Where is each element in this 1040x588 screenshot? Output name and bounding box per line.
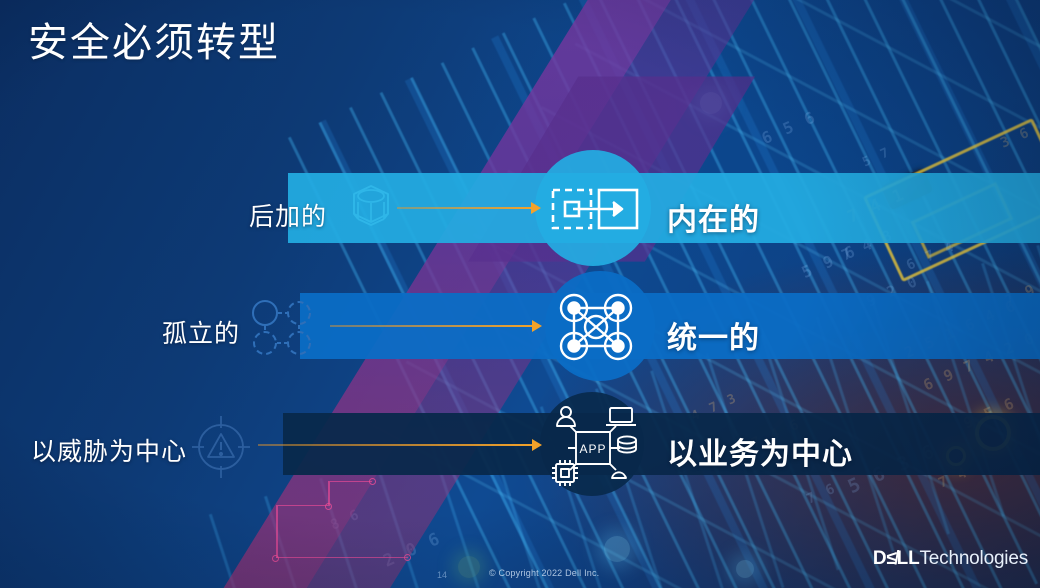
circuit-glow-dot-4 [736, 560, 754, 578]
row-1-transition-arrow [397, 202, 541, 214]
row-2-transition-arrow [330, 320, 542, 332]
threat-target-icon [190, 414, 252, 480]
app-icon-label: APP [579, 442, 606, 456]
slide-number: 14 [437, 570, 447, 580]
row-3-to-label: 以业务为中心 [667, 429, 853, 473]
app-ecosystem-icon: APP [548, 402, 638, 486]
row-1-to-label: 内在的 [667, 195, 760, 239]
connected-mesh-icon [556, 291, 636, 363]
embedded-module-icon [551, 186, 639, 232]
dell-wordmark: D≰LL [873, 548, 920, 570]
copyright-notice: © Copyright 2022 Dell Inc. [489, 568, 599, 578]
disconnected-nodes-icon [249, 297, 315, 359]
row-2-to-label: 统一的 [667, 313, 760, 357]
slide-canvas: 6 5 6 7 4 1 5 9 6 7 4 8 9 2 0 6 7 4 3 6 … [0, 0, 1040, 588]
dell-technologies-logo: D≰LL Technologies [873, 548, 1028, 570]
page-title: 安全必须转型 [28, 18, 280, 68]
circuit-glow-dot-2 [604, 536, 630, 562]
row-2-from-label: 孤立的 [162, 314, 240, 350]
technologies-wordmark: Technologies [919, 548, 1028, 570]
row-1-from-label: 后加的 [249, 197, 327, 233]
row-3-from-label: 以威胁为中心 [31, 432, 187, 468]
hex-nut-icon [336, 183, 406, 239]
row-3-transition-arrow [258, 439, 542, 451]
